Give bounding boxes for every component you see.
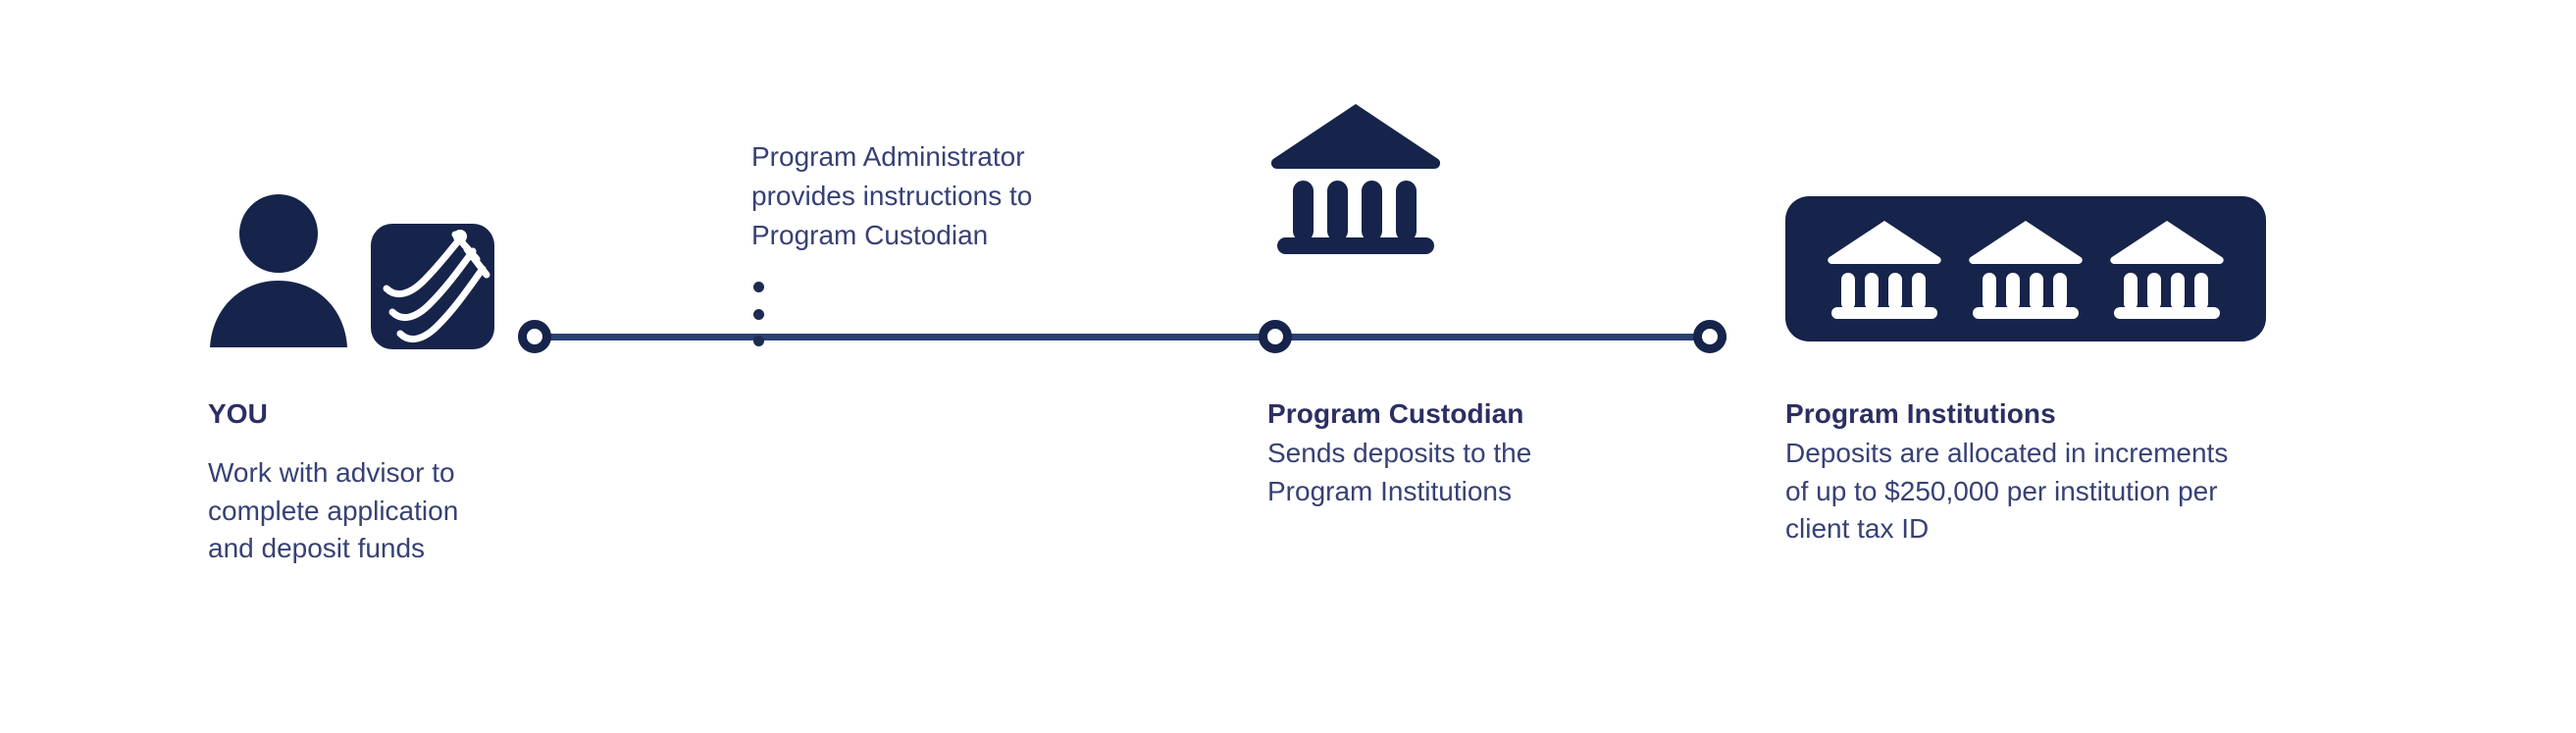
annotation-line-1: Program Administrator (751, 137, 1173, 177)
stage-body-line-3: and deposit funds (208, 530, 600, 568)
connector-rail (535, 334, 1726, 340)
program-institutions-box (1785, 196, 2266, 341)
dot-2 (753, 309, 764, 320)
stage-you-icons (206, 194, 500, 351)
annotation-line-2: provides instructions to (751, 177, 1173, 216)
stage-body-line-1: Work with advisor to (208, 454, 600, 493)
bank-icon (1825, 217, 1944, 321)
stage-body-you: Work with advisor to complete applicatio… (208, 454, 600, 568)
bank-icon (2107, 217, 2227, 321)
diagram-canvas: Program Administrator provides instructi… (0, 0, 2576, 733)
growth-chart-icon (371, 224, 494, 349)
stage-caption-program-custodian: Program Custodian Sends deposits to the … (1267, 396, 1679, 510)
stage-body-program-custodian: Sends deposits to the Program Institutio… (1267, 435, 1679, 510)
program-administrator-annotation: Program Administrator provides instructi… (751, 137, 1173, 254)
stage-title-program-custodian: Program Custodian (1267, 396, 1679, 431)
stage-body-line-2: Program Institutions (1267, 473, 1679, 511)
stage-body-line-2: of up to $250,000 per institution per (1785, 473, 2413, 511)
person-icon (206, 194, 351, 349)
flow-node-you (518, 320, 551, 353)
stage-caption-you: YOU Work with advisor to complete applic… (208, 396, 600, 568)
flow-node-program-custodian (1259, 320, 1292, 353)
annotation-line-3: Program Custodian (751, 216, 1173, 255)
bank-icon (1966, 217, 2086, 321)
stage-caption-program-institutions: Program Institutions Deposits are alloca… (1785, 396, 2413, 549)
stage-body-line-1: Deposits are allocated in increments (1785, 435, 2413, 473)
flow-node-program-institutions (1693, 320, 1726, 353)
stage-body-program-institutions: Deposits are allocated in increments of … (1785, 435, 2413, 549)
stage-title-program-institutions: Program Institutions (1785, 396, 2413, 431)
stage-body-line-1: Sends deposits to the (1267, 435, 1679, 473)
bank-icon (1267, 98, 1444, 255)
dot-1 (753, 282, 764, 292)
stage-body-line-3: client tax ID (1785, 510, 2413, 549)
stage-title-you: YOU (208, 396, 600, 431)
dotted-connector (752, 282, 765, 346)
dot-3 (753, 336, 764, 346)
stage-body-line-2: complete application (208, 493, 600, 531)
